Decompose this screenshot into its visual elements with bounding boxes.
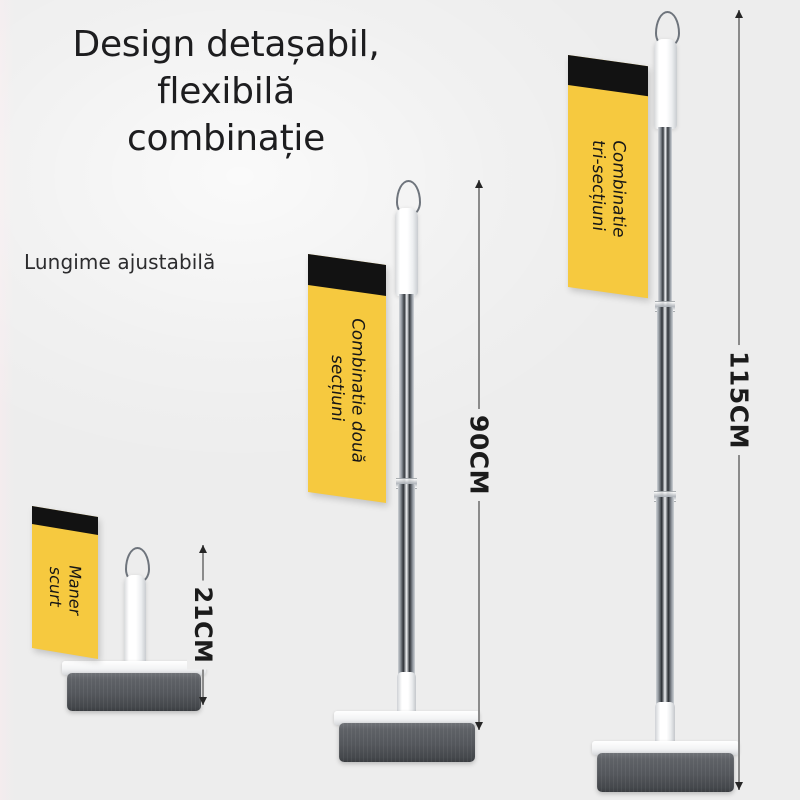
squeegee-blade: [597, 753, 734, 792]
dimension-arrow-bottom-icon: [475, 722, 483, 730]
dimension-arrow-top-icon: [199, 545, 207, 553]
dimension-arrow-bottom-icon: [735, 782, 743, 790]
banner-tri-section: Combinatie tri-secțiuni: [568, 55, 648, 298]
head-connector-sleeve: [397, 672, 416, 716]
handle-grip: [395, 208, 418, 296]
banner-sheet: Combinatie tri-secțiuni: [568, 55, 648, 298]
dimension-arrow-bottom-icon: [199, 697, 207, 705]
pole-section-upper: [399, 294, 414, 486]
product-infographic: Design detașabil, flexibilă combinație L…: [0, 0, 800, 800]
handle-grip: [654, 39, 677, 129]
handle-grip: [124, 575, 146, 673]
dimension-label: 90CM: [463, 409, 496, 501]
dimension-21cm: 21CM: [186, 545, 220, 705]
head-connector-sleeve: [655, 702, 675, 746]
dimension-label: 115CM: [723, 345, 756, 455]
pole-section-lower: [398, 484, 415, 683]
page-title: Design detașabil, flexibilă combinație: [46, 22, 406, 162]
banner-short-handle: Maner scurt: [32, 506, 98, 659]
pole-section-2: [657, 307, 673, 499]
banner-label: Maner scurt: [32, 506, 98, 659]
squeegee-blade: [67, 673, 201, 711]
banner-sheet: Combinatie două secțiuni: [308, 254, 386, 503]
subtitle-adjustable-length: Lungime ajustabilă: [24, 250, 215, 274]
dimension-arrow-top-icon: [475, 180, 483, 188]
pole-section-3: [656, 497, 674, 712]
dimension-115cm: 115CM: [722, 10, 756, 790]
dimension-arrow-top-icon: [735, 10, 743, 18]
banner-label: Combinatie tri-secțiuni: [568, 55, 648, 298]
dimension-label: 21CM: [187, 581, 219, 670]
pole-section-1: [658, 127, 672, 309]
banner-two-section: Combinatie două secțiuni: [308, 254, 386, 503]
squeegee-blade: [339, 723, 475, 762]
banner-sheet: Maner scurt: [32, 506, 98, 659]
banner-label: Combinatie două secțiuni: [308, 254, 386, 503]
dimension-90cm: 90CM: [462, 180, 496, 730]
